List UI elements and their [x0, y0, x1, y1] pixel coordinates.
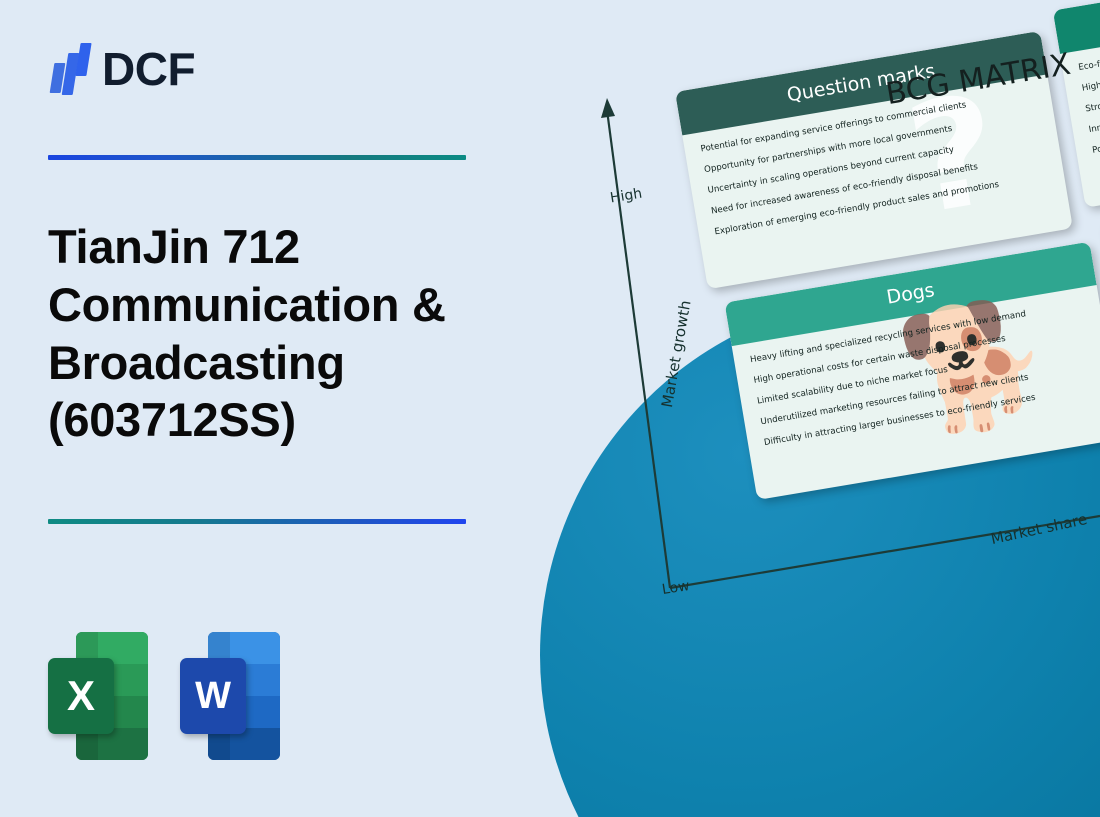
slide-canvas: DCF TianJin 712 Communication & Broadcas… — [0, 0, 1100, 817]
excel-icon[interactable]: X — [48, 632, 148, 760]
word-badge-letter: W — [180, 658, 246, 734]
quadrant-dogs[interactable]: Dogs 🐕 Heavy lifting and specialized rec… — [724, 242, 1100, 500]
dcf-bars-logo-icon — [48, 41, 94, 97]
dcf-logo[interactable]: DCF — [48, 38, 195, 100]
page-title-line-3: Broadcasting — [48, 334, 548, 392]
excel-badge-letter: X — [48, 658, 114, 734]
word-icon[interactable]: W — [180, 632, 280, 760]
page-title-line-1: TianJin 712 — [48, 218, 548, 276]
download-icons: X W — [48, 632, 280, 760]
page-title-line-4: (603712SS) — [48, 391, 548, 449]
left-content-panel: DCF TianJin 712 Communication & Broadcas… — [0, 0, 560, 817]
page-title: TianJin 712 Communication & Broadcasting… — [48, 218, 548, 449]
divider-top — [48, 155, 466, 160]
bcg-matrix-artwork: High Low Market growth Market share BCG … — [470, 0, 1100, 817]
page-title-line-2: Communication & — [48, 276, 548, 334]
divider-bottom — [48, 519, 466, 524]
logo-wordmark: DCF — [102, 46, 195, 92]
